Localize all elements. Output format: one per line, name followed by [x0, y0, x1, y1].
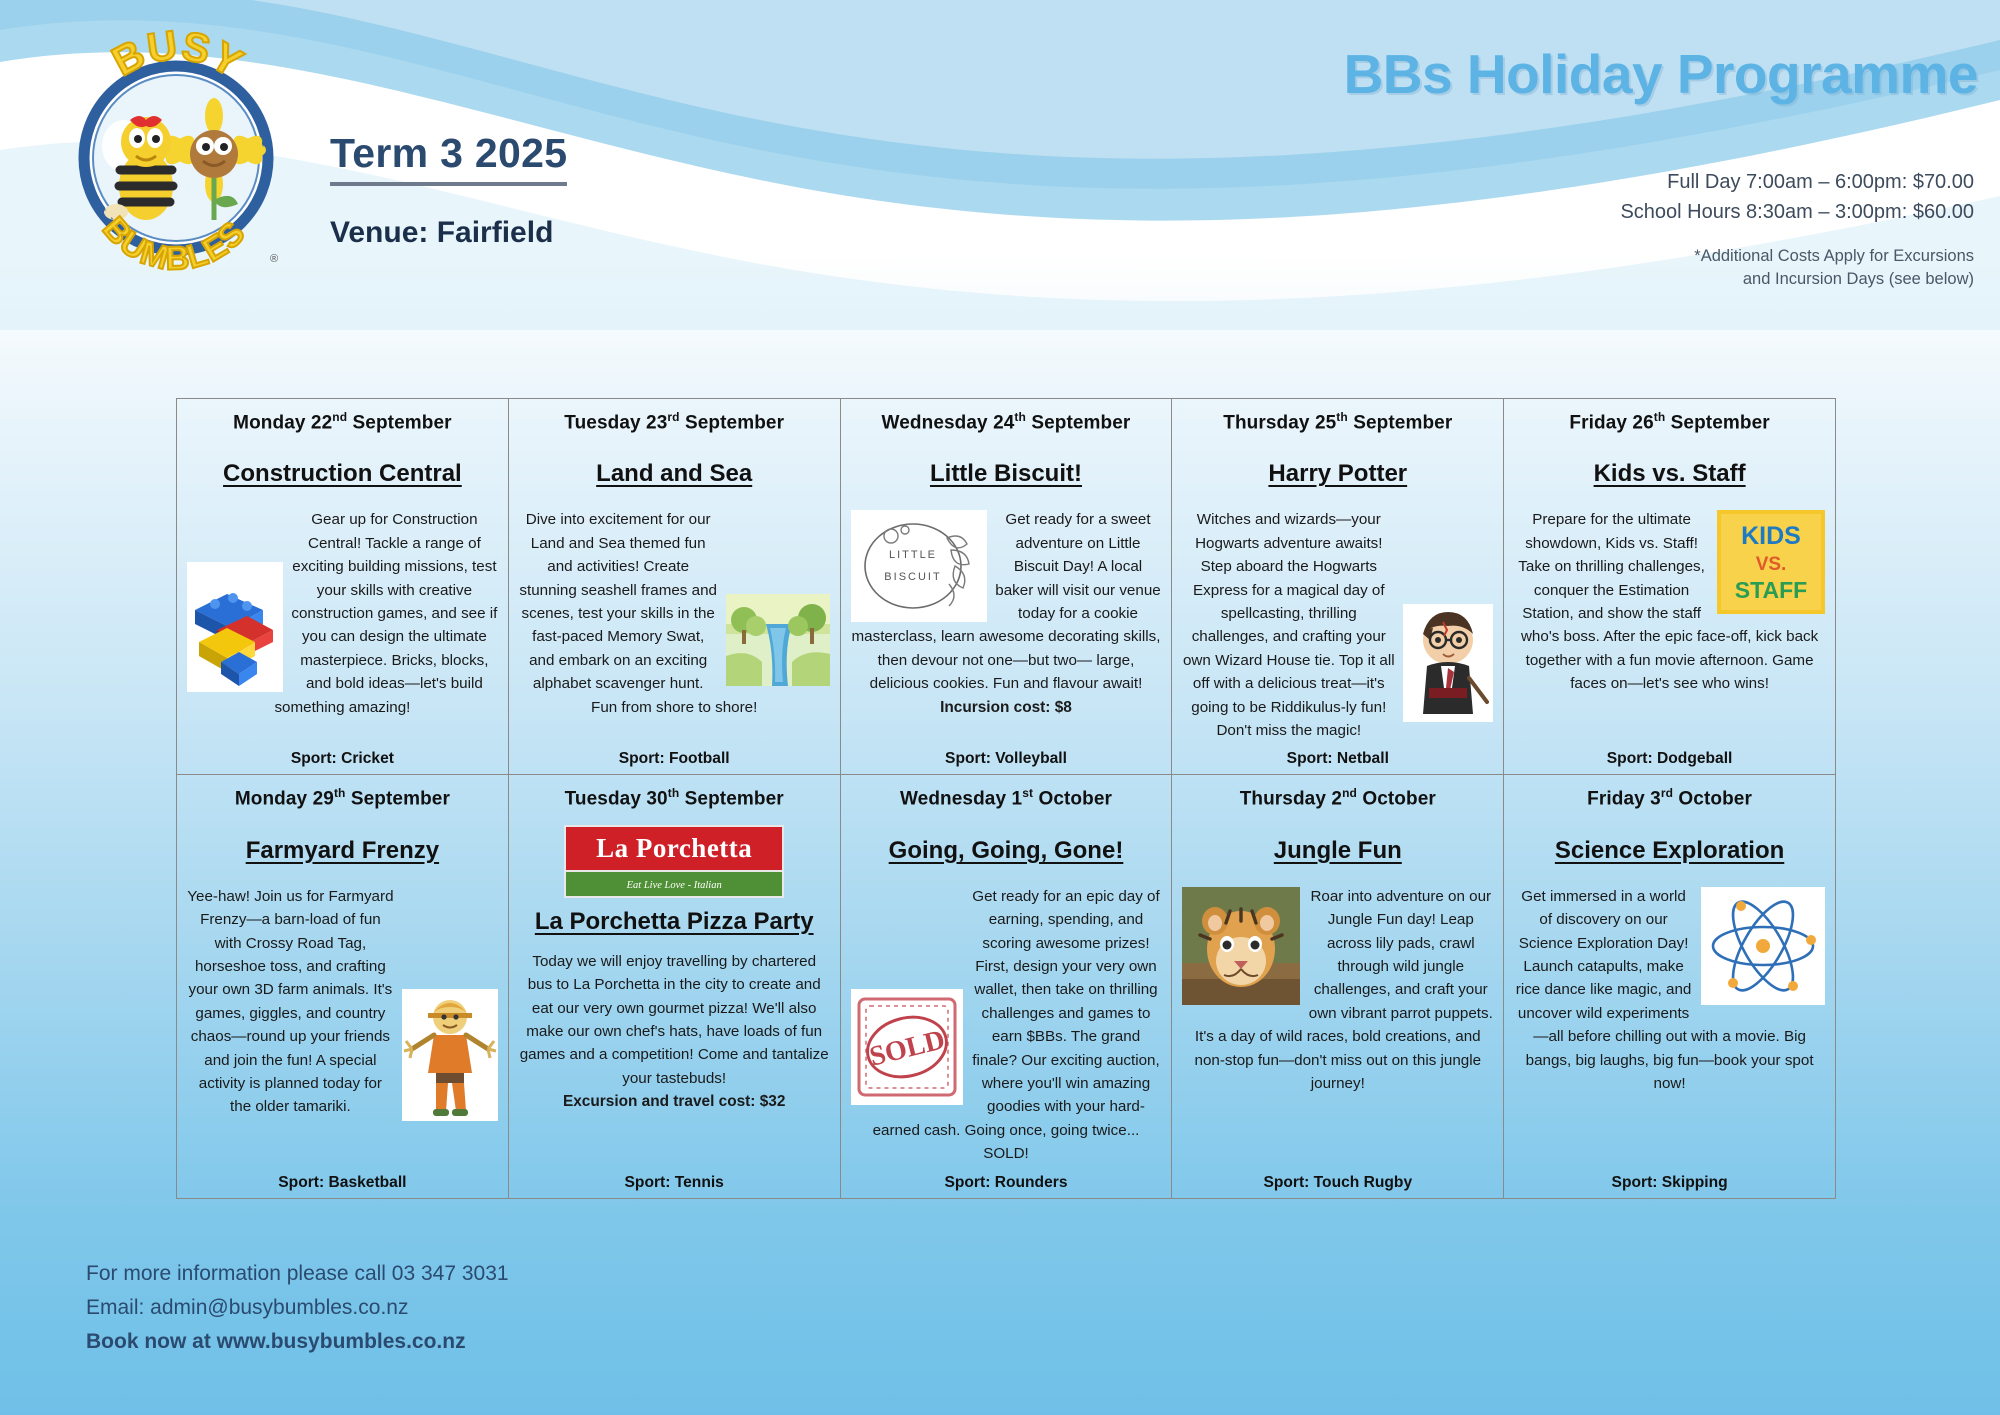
la-porchetta-logo: La Porchetta Eat Live Love - Italian: [564, 825, 784, 898]
date-heading: Tuesday 30th September: [519, 786, 830, 810]
programme-calendar: Monday 22nd September Construction Centr…: [176, 398, 1836, 1199]
svg-text:KIDS: KIDS: [1741, 522, 1801, 550]
day-cell-wednesday-1-october: Wednesday 1st October Going, Going, Gone…: [841, 775, 1173, 1198]
cost-label: Excursion and travel cost: $32: [519, 1090, 830, 1114]
description-block: Yee-haw! Join us for Farmyard Frenzy—a b…: [187, 885, 498, 1166]
sport-label: Sport: Football: [519, 742, 830, 768]
kids-vs-staff-graphic-icon: KIDS VS. STAFF: [1717, 510, 1825, 614]
date-heading: Wednesday 24th September: [851, 410, 1162, 434]
theme-title: La Porchetta Pizza Party: [519, 908, 830, 936]
date-heading: Tuesday 23rd September: [519, 410, 830, 434]
sport-label: Sport: Volleyball: [851, 742, 1162, 768]
svg-text:LITTLE: LITTLE: [889, 549, 937, 561]
scarecrow-icon: [402, 989, 498, 1121]
page-title: BBs Holiday Programme: [1344, 42, 1978, 106]
date-heading: Wednesday 1st October: [851, 786, 1162, 810]
date-heading: Friday 3rd October: [1514, 786, 1825, 810]
theme-title: Kids vs. Staff: [1514, 460, 1825, 488]
day-cell-monday-29-september: Monday 29th September Farmyard Frenzy Ye…: [177, 775, 509, 1198]
sport-label: Sport: Netball: [1182, 742, 1493, 768]
description-block: Gear up for Construction Central! Tackle…: [187, 508, 498, 742]
sport-label: Sport: Tennis: [519, 1166, 830, 1192]
note-line-1: *Additional Costs Apply for Excursions: [1694, 245, 1974, 268]
footer-email: Email: admin@busybumbles.co.nz: [86, 1291, 509, 1325]
note-line-2: and Incursion Days (see below): [1694, 268, 1974, 291]
cost-label: Incursion cost: $8: [851, 696, 1162, 720]
footer-phone: For more information please call 03 347 …: [86, 1257, 509, 1291]
day-cell-wednesday-24-september: Wednesday 24th September Little Biscuit!…: [841, 399, 1173, 775]
sold-stamp-icon: SOLD: [851, 989, 963, 1105]
logo-artwork: BUSY BUMBLES ®: [62, 18, 290, 288]
term-block: Term 3 2025 Venue: Fairfield: [330, 130, 567, 250]
sport-label: Sport: Rounders: [851, 1166, 1162, 1192]
additional-cost-note: *Additional Costs Apply for Excursions a…: [1694, 245, 1974, 291]
sport-label: Sport: Cricket: [187, 742, 498, 768]
description-block: Witches and wizards—your Hogwarts advent…: [1182, 508, 1493, 742]
description-block: Get immersed in a world of discovery on …: [1514, 885, 1825, 1166]
date-heading: Monday 29th September: [187, 786, 498, 810]
term-title: Term 3 2025: [330, 130, 567, 186]
day-cell-tuesday-23-september: Tuesday 23rd September Land and Sea Dive…: [509, 399, 841, 775]
theme-title: Land and Sea: [519, 460, 830, 488]
description-block: KIDS VS. STAFF Prepare for the ultimate …: [1514, 508, 1825, 742]
date-heading: Friday 26th September: [1514, 410, 1825, 434]
theme-title: Harry Potter: [1182, 460, 1493, 488]
venue-label: Venue: Fairfield: [330, 216, 567, 250]
description-block: SOLD Get ready for an epic day of earnin…: [851, 885, 1162, 1166]
price-full-day: Full Day 7:00am – 6:00pm: $70.00: [1620, 168, 1974, 198]
river-landscape-icon: [726, 594, 830, 686]
tiger-cub-icon: [1182, 887, 1300, 1005]
contact-footer: For more information please call 03 347 …: [86, 1257, 509, 1359]
svg-text:BISCUIT: BISCUIT: [884, 571, 941, 583]
description-block: Roar into adventure on our Jungle Fun da…: [1182, 885, 1493, 1166]
sport-label: Sport: Dodgeball: [1514, 742, 1825, 768]
description-block: Dive into excitement for our Land and Se…: [519, 508, 830, 742]
sport-label: Sport: Basketball: [187, 1166, 498, 1192]
date-heading: Thursday 2nd October: [1182, 786, 1493, 810]
sport-label: Sport: Touch Rugby: [1182, 1166, 1493, 1192]
date-heading: Monday 22nd September: [187, 410, 498, 434]
svg-text:STAFF: STAFF: [1735, 577, 1807, 603]
day-cell-thursday-25-september: Thursday 25th September Harry Potter: [1172, 399, 1504, 775]
day-cell-friday-26-september: Friday 26th September Kids vs. Staff KID…: [1504, 399, 1836, 775]
description-block: Today we will enjoy travelling by charte…: [519, 950, 830, 1166]
day-cell-friday-3-october: Friday 3rd October Science Exploration G…: [1504, 775, 1836, 1198]
harry-potter-figure-icon: [1403, 604, 1493, 722]
description-block: LITTLE BISCUIT Get ready for a sweet adv…: [851, 508, 1162, 742]
theme-title: Going, Going, Gone!: [851, 837, 1162, 865]
little-biscuit-logo-icon: LITTLE BISCUIT: [851, 510, 987, 622]
sport-label: Sport: Skipping: [1514, 1166, 1825, 1192]
theme-title: Little Biscuit!: [851, 460, 1162, 488]
day-cell-monday-22-september: Monday 22nd September Construction Centr…: [177, 399, 509, 775]
svg-text:VS.: VS.: [1756, 554, 1787, 575]
registered-mark: ®: [270, 253, 278, 265]
description-text: Today we will enjoy travelling by charte…: [519, 950, 830, 1090]
price-school-hours: School Hours 8:30am – 3:00pm: $60.00: [1620, 198, 1974, 228]
footer-website[interactable]: Book now at www.busybumbles.co.nz: [86, 1325, 509, 1359]
day-cell-tuesday-30-september: Tuesday 30th September La Porchetta Eat …: [509, 775, 841, 1198]
date-heading: Thursday 25th September: [1182, 410, 1493, 434]
lego-bricks-icon: [187, 562, 283, 692]
day-cell-thursday-2-october: Thursday 2nd October Jungle Fun: [1172, 775, 1504, 1198]
theme-title: Farmyard Frenzy: [187, 837, 498, 865]
pricing-block: Full Day 7:00am – 6:00pm: $70.00 School …: [1620, 168, 1974, 227]
la-porchetta-tagline: Eat Live Love - Italian: [627, 880, 722, 891]
la-porchetta-logo-text: La Porchetta: [596, 833, 752, 863]
theme-title: Jungle Fun: [1182, 837, 1493, 865]
theme-title: Science Exploration: [1514, 837, 1825, 865]
theme-title: Construction Central: [187, 460, 498, 488]
busy-bumbles-logo: BUSY BUMBLES ®: [62, 18, 290, 288]
atom-science-icon: [1701, 887, 1825, 1005]
